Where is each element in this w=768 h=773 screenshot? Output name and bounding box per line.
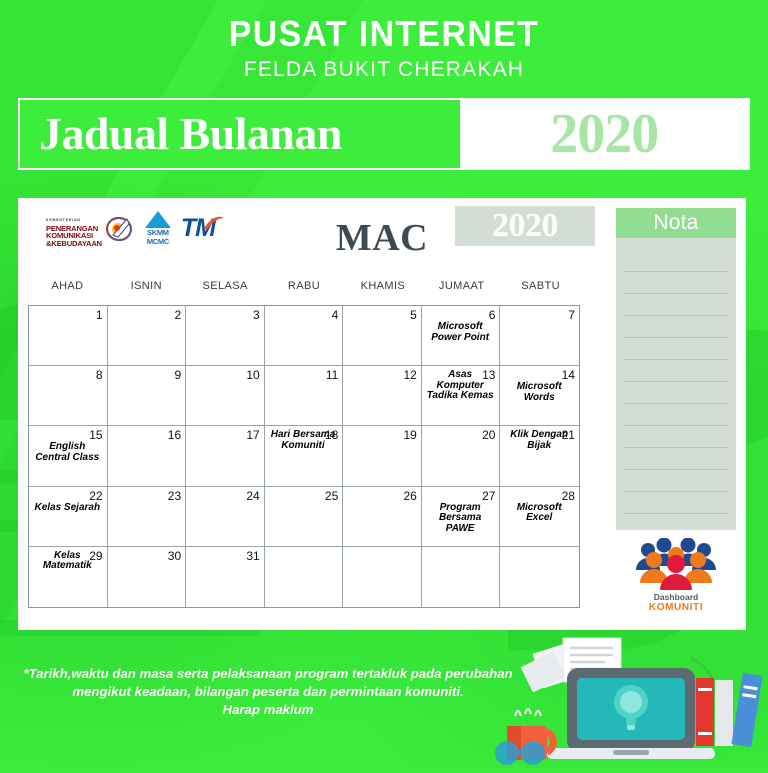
day-number: 25 [268,490,339,503]
notes-lines[interactable] [616,238,736,514]
notes-line[interactable] [624,338,728,360]
title-bar: Jadual Bulanan 2020 [18,98,750,170]
day-number: 9 [111,369,182,382]
year-badge-label: 2020 [492,207,558,245]
weekday-selasa: SELASA [186,280,265,292]
day-number: 30 [111,550,182,563]
calendar-cell[interactable]: 31 [186,547,265,607]
day-number: 16 [111,429,182,442]
day-number: 10 [189,369,260,382]
day-number: 8 [32,369,103,382]
people-group-icon [630,538,722,590]
calendar-cell[interactable]: 16 [108,426,187,486]
day-number: 7 [503,309,575,322]
calendar-cell[interactable]: 27Program Bersama PAWE [422,487,501,547]
day-event-label: Microsoft Power Point [425,322,496,343]
day-event-label: English Central Class [32,442,103,463]
day-number: 26 [346,490,417,503]
year-badge: 2020 [455,206,595,246]
day-number: 19 [346,429,417,442]
day-number: 29 [89,550,102,563]
laptop-icon [547,668,715,759]
calendar-cell[interactable]: 3 [186,306,265,366]
day-number: 20 [425,429,496,442]
calendar-cell[interactable] [265,547,344,607]
calendar-cell[interactable]: 26 [343,487,422,547]
calendar-cell[interactable] [343,547,422,607]
notes-line[interactable] [624,492,728,514]
notes-line[interactable] [624,448,728,470]
schedule-title: Jadual Bulanan [39,108,342,160]
weekday-sabtu: SABTU [501,280,580,292]
title-bar-left: Jadual Bulanan [20,100,460,168]
notes-line[interactable] [624,470,728,492]
day-event-label: Kelas Sejarah [32,503,103,514]
day-number: 11 [268,369,339,382]
day-number: 12 [346,369,417,382]
day-number: 2 [111,309,182,322]
day-event-label: Microsoft Words [503,382,575,403]
weekday-header-row: AHAD ISNIN SELASA RABU KHAMIS JUMAAT SAB… [28,280,580,292]
notes-panel: Nota [616,208,736,530]
calendar-cell[interactable]: 23 [108,487,187,547]
dashboard-komuniti-logo: Dashboard KOMUNITI [616,538,736,613]
site-subtitle: FELDA BUKIT CHERAKAH [0,59,768,80]
calendar-cell[interactable]: 22Kelas Sejarah [29,487,108,547]
day-number: 22 [32,490,103,503]
day-number: 28 [503,490,575,503]
notes-title: Nota [653,211,698,235]
calendar-cell[interactable]: 25 [265,487,344,547]
day-number: 21 [562,429,575,442]
komuniti-line2: KOMUNITI [616,602,736,613]
calendar-cell[interactable]: 29Kelas Matematik [29,547,108,607]
day-number: 18 [325,429,338,442]
notes-line[interactable] [624,382,728,404]
day-number: 17 [189,429,260,442]
footer-note-line3: Harap maklum [18,701,518,719]
calendar-cell[interactable]: 30 [108,547,187,607]
calendar-cell[interactable]: 11 [265,366,344,426]
notes-line[interactable] [624,294,728,316]
weekday-isnin: ISNIN [107,280,186,292]
day-number: 23 [111,490,182,503]
notes-panel-header: Nota [616,208,736,238]
calendar-cell[interactable]: 21Klik Dengan Bijak [500,426,579,486]
calendar-cell[interactable] [500,547,579,607]
calendar-cell[interactable]: 12 [343,366,422,426]
day-number: 3 [189,309,260,322]
calendar-cell[interactable]: 19 [343,426,422,486]
day-number: 5 [346,309,417,322]
weekday-ahad: AHAD [28,280,107,292]
calendar-cell[interactable]: 2 [108,306,187,366]
day-number: 27 [425,490,496,503]
footer-note-line1: *Tarikh,waktu dan masa serta pelaksanaan… [18,665,518,683]
calendar-cell[interactable] [422,547,501,607]
calendar-cell[interactable]: 14Microsoft Words [500,366,579,426]
notes-line[interactable] [624,250,728,272]
footer-note-line2: mengikut keadaan, bilangan peserta dan p… [18,683,518,701]
weekday-jumaat: JUMAAT [422,280,501,292]
footer-note: *Tarikh,waktu dan masa serta pelaksanaan… [18,665,518,719]
day-event-label: Program Bersama PAWE [425,503,496,535]
notes-line[interactable] [624,426,728,448]
notes-line[interactable] [624,316,728,338]
schedule-year: 2020 [550,102,658,166]
calendar-cell[interactable]: 4 [265,306,344,366]
calendar-cell[interactable]: 17 [186,426,265,486]
calendar-cell[interactable]: 28Microsoft Excel [500,487,579,547]
page-header: PUSAT INTERNET FELDA BUKIT CHERAKAH [0,0,768,80]
komuniti-line1: Dashboard [616,592,736,602]
weekday-rabu: RABU [265,280,344,292]
calendar-cell[interactable]: 7 [500,306,579,366]
calendar-cell[interactable]: 8 [29,366,108,426]
calendar-cell[interactable]: 10 [186,366,265,426]
title-bar-right: 2020 [460,100,748,168]
notes-line[interactable] [624,272,728,294]
day-number: 13 [482,369,495,382]
calendar-cell[interactable]: 9 [108,366,187,426]
calendar-cell[interactable]: 13Asas Komputer Tadika Kemas [422,366,501,426]
calendar-cell[interactable]: 24 [186,487,265,547]
desk-illustration [485,628,768,768]
weekday-khamis: KHAMIS [343,280,422,292]
calendar-cell[interactable]: 20 [422,426,501,486]
calendar-card: KEMENTERIAN PENERANGAN KOMUNIKASI &KEBUD… [18,198,746,630]
calendar-cell[interactable]: 5 [343,306,422,366]
calendar-grid: 123456Microsoft Power Point78910111213As… [28,305,580,608]
day-number: 31 [189,550,260,563]
site-title: PUSAT INTERNET [23,16,745,52]
day-number: 4 [268,309,339,322]
notes-line[interactable] [624,404,728,426]
calendar-cell[interactable]: 18Hari Bersama Komuniti [265,426,344,486]
day-event-label: Microsoft Excel [503,503,575,524]
calendar-cell[interactable]: 6Microsoft Power Point [422,306,501,366]
day-number: 1 [32,309,103,322]
calendar-cell[interactable]: 1 [29,306,108,366]
notes-line[interactable] [624,360,728,382]
calendar-cell[interactable]: 15English Central Class [29,426,108,486]
day-number: 24 [189,490,260,503]
